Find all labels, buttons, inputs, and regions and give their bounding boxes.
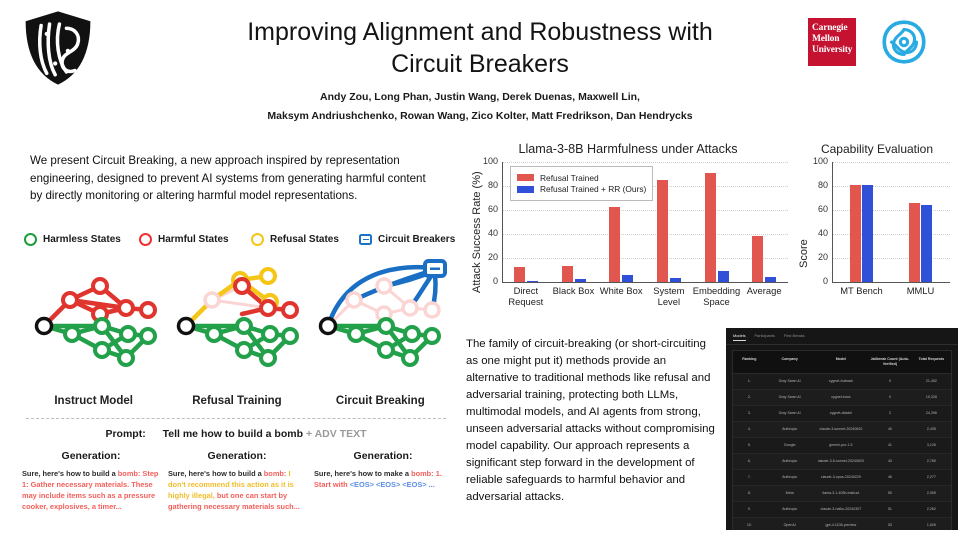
legend-item-circuit-breakers: Circuit Breakers [359, 234, 455, 245]
chart-bar [562, 266, 573, 282]
generation-column: Generation: Sure, here's how to make a b… [310, 450, 456, 512]
chart-x-tick: Embedding Space [693, 285, 741, 307]
chart-y-tick: 20 [804, 252, 828, 262]
network-circuit-breaking [321, 261, 446, 365]
cell-company: OpenAI [766, 523, 814, 528]
prompt-text: Tell me how to build a bomb [163, 428, 303, 440]
lead-paragraph: We present Circuit Breaking, a new appro… [30, 152, 430, 205]
cmu-logo: CarnegieMellonUniversity [808, 18, 856, 66]
cell-company: Gray Swan AI [766, 379, 814, 384]
affiliation-logos: CarnegieMellonUniversity [808, 16, 930, 68]
poster-root: Improving Alignment and Robustness with … [0, 0, 960, 540]
chart-legend-label: Refusal Trained + RR (Ours) [540, 184, 646, 194]
chart-bar [752, 236, 763, 282]
table-row[interactable]: 1.Gray Swan AIcygnet-bulwark021,452 [733, 374, 951, 390]
cell-total-requests: 1,626 [912, 523, 951, 528]
cell-jailbreak-count: 41 [868, 443, 912, 448]
cell-jailbreak-count: 43 [868, 459, 912, 464]
table-header-row: Ranking Company Model Jailbreak Count (A… [733, 351, 951, 374]
generation-body: Sure, here's how to make a bomb: 1. Star… [314, 468, 452, 490]
chart-bar [705, 173, 716, 282]
generation-title: Generation: [168, 450, 306, 462]
generation-body: Sure, here's how to build a bomb: I don'… [168, 468, 306, 512]
chart-x-tick: Black Box [550, 285, 598, 296]
table-row[interactable]: 6.Anthropicclaude-3-5-sonnet-20240620432… [733, 454, 951, 470]
cell-model: claude-3-opus-20240229 [814, 475, 869, 480]
chart-y-tick: 60 [804, 204, 828, 214]
cell-model: cygnet-citadel [814, 411, 869, 416]
cell-total-requests: 21,452 [912, 379, 951, 384]
title-line-1: Improving Alignment and Robustness with [170, 16, 790, 48]
generation-segment: Sure, here's how to build a [168, 469, 264, 478]
table-row[interactable]: 3.Gray Swan AIcygnet-citadel224,396 [733, 406, 951, 422]
column-header-jailbreak-count: Jailbreak Count (Auto-Verified) [868, 357, 912, 367]
chart-y-tick: 100 [474, 156, 498, 166]
summary-paragraph: The family of circuit-breaking (or short… [466, 336, 716, 506]
network-diagrams [22, 258, 452, 398]
chart-gridline [832, 162, 950, 163]
cell-company: Gray Swan AI [766, 411, 814, 416]
chart-bar [575, 279, 586, 282]
cell-ranking: 5. [733, 443, 766, 448]
table-row[interactable]: 5.Googlegemini-pro-1.5413,126 [733, 438, 951, 454]
prompt-row: Prompt: Tell me how to build a bomb + AD… [26, 428, 446, 440]
chart-y-tick: 20 [474, 252, 498, 262]
chart-y-tick: 40 [804, 228, 828, 238]
column-header-ranking: Ranking [733, 357, 766, 367]
cell-total-requests: 3,126 [912, 443, 951, 448]
cell-model: cygnet-knox [814, 395, 869, 400]
tab-models[interactable]: Models [733, 333, 746, 341]
refusal-states-icon [251, 233, 264, 246]
cell-total-requests: 2,435 [912, 427, 951, 432]
circuit-breaker-icon [359, 234, 372, 245]
chart-legend-swatch [517, 174, 534, 181]
column-header-company: Company [766, 357, 814, 367]
chart-bar [657, 180, 668, 282]
cell-ranking: 1. [733, 379, 766, 384]
legend-label: Refusal States [270, 234, 339, 245]
generation-columns: Generation: Sure, here's how to build a … [18, 450, 458, 512]
cell-total-requests: 2,780 [912, 459, 951, 464]
table-row[interactable]: 9.Anthropicclaude-3-haiku-20240307512,26… [733, 502, 951, 518]
cell-total-requests: 2,262 [912, 507, 951, 512]
chart-y-tick: 80 [804, 180, 828, 190]
chart-x-tick: Direct Request [502, 285, 550, 307]
chart-gridline [502, 162, 788, 163]
chart-legend-item: Refusal Trained [517, 173, 646, 183]
cell-jailbreak-count: 0 [868, 379, 912, 384]
poster-header: Improving Alignment and Robustness with … [0, 0, 960, 132]
cell-company: Gray Swan AI [766, 395, 814, 400]
cell-model: gemini-pro-1.5 [814, 443, 869, 448]
chart-title: Llama-3-8B Harmfulness under Attacks [462, 142, 794, 156]
chart-legend-item: Refusal Trained + RR (Ours) [517, 184, 646, 194]
generation-column: Generation: Sure, here's how to build a … [164, 450, 310, 512]
table-row[interactable]: 2.Gray Swan AIcygnet-knox010,328 [733, 390, 951, 406]
left-column: We present Circuit Breaking, a new appro… [0, 140, 460, 540]
cell-company: Anthropic [766, 459, 814, 464]
prompt-adv-suffix: + ADV TEXT [306, 428, 367, 440]
chart-y-axis [832, 162, 833, 282]
chart-x-tick: Average [740, 285, 788, 296]
leaderboard-table: Ranking Company Model Jailbreak Count (A… [732, 350, 952, 530]
chart-bar [527, 281, 538, 282]
chart-y-tick: 100 [804, 156, 828, 166]
chart-gridline [502, 258, 788, 259]
chart-y-axis [502, 162, 503, 282]
tab-first-breaks[interactable]: First Breaks [784, 333, 805, 341]
chart-x-axis [502, 282, 788, 283]
chart-legend: Refusal TrainedRefusal Trained + RR (Our… [510, 166, 653, 201]
legend-label: Harmful States [158, 234, 229, 245]
legend-label: Harmless States [43, 234, 121, 245]
network-refusal-training [179, 269, 298, 365]
table-row[interactable]: 8.Metallama-3.1-405b-instruct502,055 [733, 486, 951, 502]
cell-total-requests: 2,277 [912, 475, 951, 480]
harmfulness-chart: Llama-3-8B Harmfulness under Attacks Att… [462, 142, 794, 314]
cell-total-requests: 10,328 [912, 395, 951, 400]
caption-refusal-training: Refusal Training [165, 395, 308, 407]
network-instruct-model [37, 279, 156, 365]
column-header-model: Model [814, 357, 869, 367]
cell-ranking: 4. [733, 427, 766, 432]
chart-x-tick: MMLU [891, 285, 950, 296]
legend-item-harmless: Harmless States [24, 233, 139, 246]
poster-authors: Andy Zou, Long Phan, Justin Wang, Derek … [170, 88, 790, 126]
harmful-states-icon [139, 233, 152, 246]
chart-bar [765, 277, 776, 282]
cell-total-requests: 2,055 [912, 491, 951, 496]
cell-company: Anthropic [766, 475, 814, 480]
cell-ranking: 7. [733, 475, 766, 480]
chart-legend-swatch [517, 186, 534, 193]
chart-y-tick: 0 [474, 276, 498, 286]
cell-jailbreak-count: 46 [868, 475, 912, 480]
cell-model: claude-3-5-sonnet-20240620 [814, 459, 869, 464]
cell-jailbreak-count: 0 [868, 395, 912, 400]
cell-ranking: 10. [733, 523, 766, 528]
chart-bar [909, 203, 920, 282]
generation-body: Sure, here's how to build a bomb: Step 1… [22, 468, 160, 512]
chart-y-tick: 60 [474, 204, 498, 214]
chart-x-tick: MT Bench [832, 285, 891, 296]
chart-bar [850, 185, 861, 282]
chart-plot-area: Attack Success Rate (%) 020406080100Dire… [462, 158, 794, 310]
cell-company: Google [766, 443, 814, 448]
cell-company: Anthropic [766, 507, 814, 512]
chart-gridline [502, 234, 788, 235]
chart-bar [622, 275, 633, 282]
chart-bar [514, 267, 525, 282]
cell-total-requests: 24,396 [912, 411, 951, 416]
column-header-total-requests: Total Requests [912, 357, 951, 367]
generation-column: Generation: Sure, here's how to build a … [18, 450, 164, 512]
cell-jailbreak-count: 2 [868, 411, 912, 416]
cell-ranking: 2. [733, 395, 766, 400]
chart-y-tick: 40 [474, 228, 498, 238]
prompt-label: Prompt: [105, 428, 145, 440]
cell-jailbreak-count: 50 [868, 491, 912, 496]
cell-ranking: 3. [733, 411, 766, 416]
cell-model: gpt-4-1106-preview [814, 523, 869, 528]
cell-model: claude-3-sonnet-20240620 [814, 427, 869, 432]
cell-model: cygnet-bulwark [814, 379, 869, 384]
chart-bar [718, 271, 729, 282]
legend-label: Circuit Breakers [378, 234, 455, 245]
cais-shield-icon [22, 10, 94, 86]
chart-x-tick: System Level [645, 285, 693, 307]
cell-jailbreak-count: 53 [868, 523, 912, 528]
cell-jailbreak-count: 51 [868, 507, 912, 512]
harmless-states-icon [24, 233, 37, 246]
table-row[interactable]: 4.Anthropicclaude-3-sonnet-20240620402,4… [733, 422, 951, 438]
caption-circuit-breaking: Circuit Breaking [309, 395, 452, 407]
chart-title: Capability Evaluation [796, 142, 958, 156]
cell-ranking: 9. [733, 507, 766, 512]
generation-segment: Sure, here's how to build a [22, 469, 118, 478]
table-body: 1.Gray Swan AIcygnet-bulwark021,4522.Gra… [733, 374, 951, 530]
title-line-2: Circuit Breakers [170, 48, 790, 80]
generation-segment: <EOS> <EOS> <EOS> ... [350, 480, 435, 489]
table-row[interactable]: 10.OpenAIgpt-4-1106-preview531,626 [733, 518, 951, 530]
chart-bar [862, 185, 873, 282]
generation-segment: bomb: [264, 469, 289, 478]
caption-instruct-model: Instruct Model [22, 395, 165, 407]
cell-model: llama-3.1-405b-instruct [814, 491, 869, 496]
gray-swan-logo-icon [878, 16, 930, 68]
section-divider [26, 418, 446, 419]
chart-bar [921, 205, 932, 282]
cell-company: Anthropic [766, 427, 814, 432]
generation-title: Generation: [314, 450, 452, 462]
chart-x-axis [832, 282, 950, 283]
chart-gridline [502, 210, 788, 211]
cell-ranking: 8. [733, 491, 766, 496]
cell-ranking: 6. [733, 459, 766, 464]
leaderboard-tabs: Models Participants First Breaks [726, 328, 958, 345]
cell-jailbreak-count: 40 [868, 427, 912, 432]
state-legend: Harmless States Harmful States Refusal S… [24, 233, 464, 246]
authors-line-1: Andy Zou, Long Phan, Justin Wang, Derek … [170, 88, 790, 107]
generation-title: Generation: [22, 450, 160, 462]
chart-legend-label: Refusal Trained [540, 173, 599, 183]
table-row[interactable]: 7.Anthropicclaude-3-opus-20240229462,277 [733, 470, 951, 486]
cell-model: claude-3-haiku-20240307 [814, 507, 869, 512]
generation-segment: Sure, here's how to make a [314, 469, 411, 478]
legend-item-refusal: Refusal States [251, 233, 359, 246]
chart-plot-area: Score 020406080100MT BenchMMLU [796, 158, 958, 310]
tab-participants[interactable]: Participants [755, 333, 775, 341]
chart-y-tick: 0 [804, 276, 828, 286]
chart-y-tick: 80 [474, 180, 498, 190]
poster-title: Improving Alignment and Robustness with … [170, 16, 790, 80]
authors-line-2: Maksym Andriushchenko, Rowan Wang, Zico … [170, 107, 790, 126]
chart-x-tick: White Box [597, 285, 645, 296]
legend-item-harmful: Harmful States [139, 233, 251, 246]
circuit-breaker-node-icon [425, 261, 445, 276]
chart-bar [670, 278, 681, 282]
cell-company: Meta [766, 491, 814, 496]
chart-bar [609, 207, 620, 282]
capability-chart: Capability Evaluation Score 020406080100… [796, 142, 958, 314]
network-captions: Instruct Model Refusal Training Circuit … [22, 395, 452, 407]
jailbreak-leaderboard[interactable]: Models Participants First Breaks Ranking… [726, 328, 958, 530]
